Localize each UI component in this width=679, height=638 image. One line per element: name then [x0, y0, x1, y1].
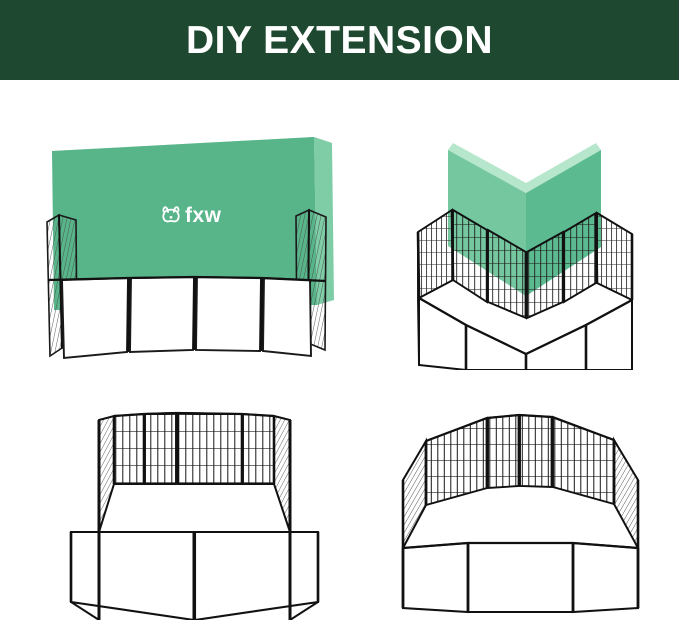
fence-panel [403, 441, 426, 548]
fence-panel [196, 277, 261, 351]
fence-panel [114, 414, 144, 484]
figure-octagon-pen [372, 380, 672, 620]
fence-panel [573, 543, 638, 612]
figure-square-pen [52, 380, 342, 620]
fence-front-panels [48, 277, 326, 358]
brand-wordmark: fxw [185, 204, 222, 227]
header-banner: DIY EXTENSION [0, 0, 679, 80]
fence-panel [553, 417, 614, 504]
fence-panel [130, 277, 194, 352]
fence-panel [520, 415, 552, 487]
figure-wall-extension: fxw [14, 120, 344, 370]
fence-panel [62, 278, 128, 358]
page-title: DIY EXTENSION [186, 21, 493, 60]
figure-corner-extension [396, 120, 672, 370]
fence-panel [466, 325, 526, 370]
fence-left-side [99, 416, 114, 532]
fence-right-side [274, 416, 290, 532]
fence-panel [419, 298, 466, 370]
fence-side-right [597, 213, 632, 300]
fence-panel [426, 418, 487, 505]
fence-panel [178, 413, 242, 484]
fence-panel [488, 415, 519, 488]
fence-panel [468, 543, 573, 612]
fence-back-row [114, 413, 274, 484]
fence-panel [586, 300, 632, 370]
fence-panel [263, 278, 311, 356]
fence-panel [145, 413, 176, 484]
infographic-page: DIY EXTENSION [0, 0, 679, 638]
fence-panel [243, 414, 274, 484]
fence-panel [614, 440, 638, 548]
figure-grid: fxw [0, 80, 679, 638]
fence-panel [403, 543, 468, 612]
fence-panel [526, 325, 586, 370]
